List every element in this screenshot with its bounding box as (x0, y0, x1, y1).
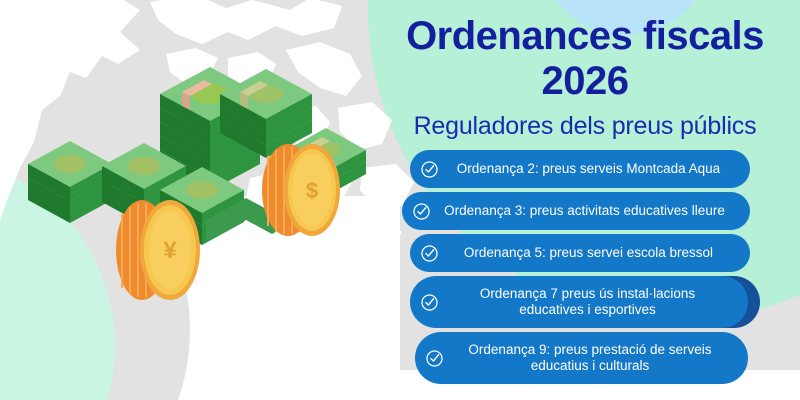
list-item-wrap-2: Ordenança 3: preus activitats educatives… (385, 192, 800, 230)
svg-text:$: $ (306, 178, 318, 203)
ordinance-list: Ordenança 2: preus serveis Montcada Aqua… (385, 150, 800, 388)
list-item-label-line-2: educatives i esportives (519, 302, 656, 317)
svg-text:¥: ¥ (163, 237, 177, 264)
title-line-1: Ordenances fiscals (385, 14, 785, 59)
list-item-label-line-1: Ordenança 7 preus ús instal·lacions (480, 286, 695, 301)
title-line-2: 2026 (385, 59, 785, 104)
list-item-wrap-5: Ordenança 9: preus prestació de serveis … (385, 332, 800, 384)
page-title: Ordenances fiscals 2026 (385, 14, 785, 104)
content-panel: Ordenances fiscals 2026 Reguladores dels… (385, 0, 800, 400)
check-circle-icon (412, 202, 431, 221)
list-item-label-line-1: Ordenança 9: preus prestació de serveis (468, 342, 711, 357)
list-item[interactable]: Ordenança 2: preus serveis Montcada Aqua (410, 150, 750, 188)
list-item-label-line-2: educatius i culturals (531, 358, 650, 373)
list-item[interactable]: Ordenança 7 preus ús instal·lacions educ… (410, 276, 748, 328)
check-circle-icon (420, 293, 439, 312)
poster-canvas: $ ¥ Ordenances fiscals 2026 Reguladores (0, 0, 800, 400)
list-item-wrap-1: Ordenança 2: preus serveis Montcada Aqua (385, 150, 800, 188)
list-item-label: Ordenança 9: preus prestació de serveis … (450, 342, 734, 374)
check-circle-icon (420, 160, 439, 179)
list-item-label: Ordenança 7 preus ús instal·lacions educ… (445, 286, 734, 318)
list-item-label: Ordenança 5: preus servei escola bressol (445, 245, 736, 261)
list-item[interactable]: Ordenança 9: preus prestació de serveis … (415, 332, 748, 384)
check-circle-icon (420, 244, 439, 263)
page-subtitle: Reguladores dels preus públics (385, 112, 785, 141)
list-item[interactable]: Ordenança 3: preus activitats educatives… (402, 192, 750, 230)
check-circle-icon (425, 349, 444, 368)
list-item-wrap-4: Ordenança 7 preus ús instal·lacions educ… (385, 276, 800, 328)
banknote-stack-front-left (28, 141, 112, 223)
money-illustration: $ ¥ (10, 30, 400, 320)
list-item[interactable]: Ordenança 5: preus servei escola bressol (410, 234, 750, 272)
list-item-wrap-3: Ordenança 5: preus servei escola bressol (385, 234, 800, 272)
gold-coin-dollar: $ (262, 144, 340, 236)
gold-coin-yen: ¥ (116, 200, 200, 300)
list-item-label: Ordenança 2: preus serveis Montcada Aqua (445, 161, 736, 177)
list-item-label: Ordenança 3: preus activitats educatives… (437, 203, 736, 219)
